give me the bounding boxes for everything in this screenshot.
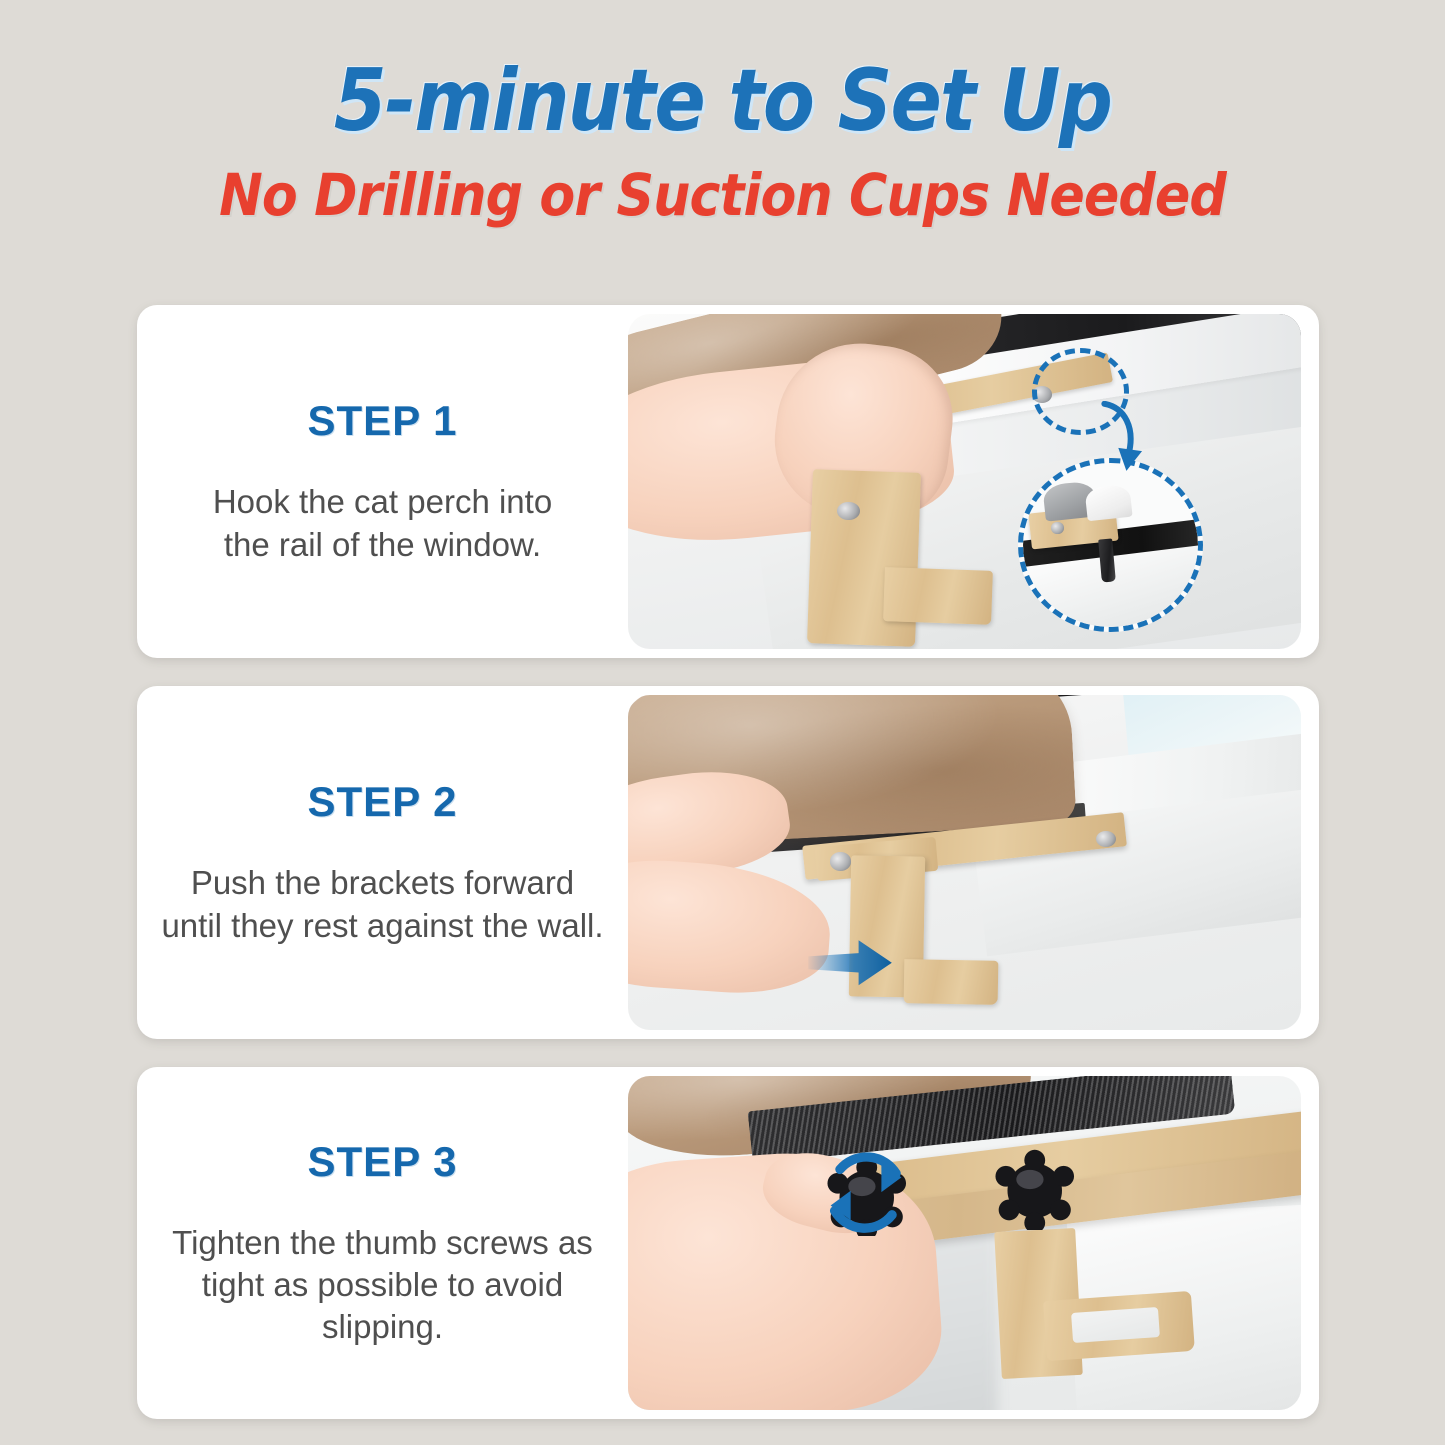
header: 5-minute to Set Up No Drilling or Suctio… bbox=[0, 0, 1445, 224]
page-subtitle: No Drilling or Suction Cups Needed bbox=[72, 166, 1373, 224]
magnified-detail-content bbox=[1023, 463, 1198, 627]
step-card-2: STEP 2 Push the brackets forward until t… bbox=[137, 686, 1319, 1039]
push-direction-arrow bbox=[776, 936, 924, 990]
step-3-photo bbox=[628, 1076, 1301, 1410]
step-3-text-pane: STEP 3 Tighten the thumb screws as tight… bbox=[137, 1067, 628, 1419]
step-2-title: STEP 2 bbox=[308, 778, 458, 826]
thumb-screw-knob-2 bbox=[991, 1149, 1078, 1229]
magnified-detail-circle bbox=[1018, 458, 1203, 632]
step-1-photo bbox=[628, 314, 1301, 649]
step-2-photo bbox=[628, 695, 1301, 1030]
bracket-hook bbox=[883, 567, 992, 624]
page-title: 5-minute to Set Up bbox=[87, 58, 1359, 144]
step-2-body: Push the brackets forward until they res… bbox=[161, 862, 603, 946]
step-card-1: STEP 1 Hook the cat perch into the rail … bbox=[137, 305, 1319, 658]
screw-head-icon bbox=[837, 502, 860, 520]
detail-screw-head-icon bbox=[1051, 522, 1063, 533]
step-1-photo-pane bbox=[628, 305, 1319, 658]
step-3-photo-pane bbox=[628, 1067, 1319, 1419]
step-3-title: STEP 3 bbox=[308, 1138, 458, 1186]
bracket-hook-cutout bbox=[1071, 1307, 1160, 1343]
tighten-rotation-arrow bbox=[790, 1136, 938, 1250]
step-3-body: Tighten the thumb screws as tight as pos… bbox=[172, 1222, 593, 1349]
bracket-screw-head-icon bbox=[830, 852, 852, 870]
step-1-body: Hook the cat perch into the rail of the … bbox=[213, 481, 552, 565]
step-2-photo-pane bbox=[628, 686, 1319, 1039]
step-2-text-pane: STEP 2 Push the brackets forward until t… bbox=[137, 686, 628, 1039]
detail-white-pad bbox=[1085, 484, 1134, 521]
zoom-pointer-arrow bbox=[1072, 401, 1166, 475]
step-1-title: STEP 1 bbox=[308, 397, 458, 445]
step-card-3: STEP 3 Tighten the thumb screws as tight… bbox=[137, 1067, 1319, 1419]
step-1-text-pane: STEP 1 Hook the cat perch into the rail … bbox=[137, 305, 628, 658]
